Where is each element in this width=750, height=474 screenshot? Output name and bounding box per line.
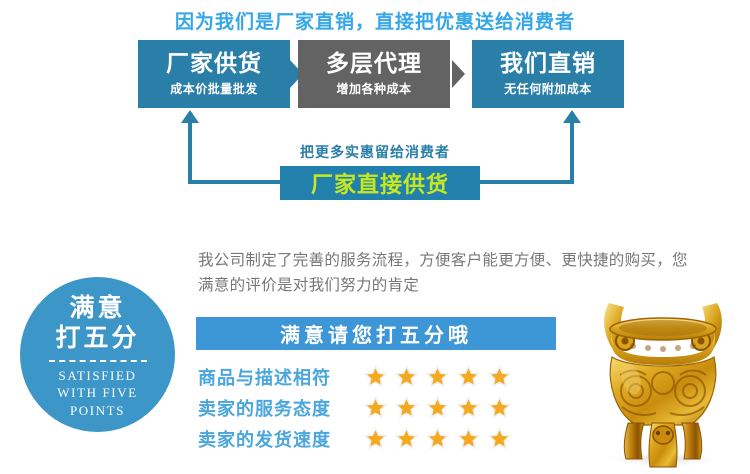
star-icon (426, 365, 449, 388)
rating-cta-label: 满意请您打五分哦 (280, 319, 472, 348)
flow-step-title: 多层代理 (326, 51, 422, 75)
golden-ding-vessel-image (576, 283, 750, 469)
rating-stars (364, 427, 511, 450)
star-icon (457, 396, 480, 419)
chevron-right-icon (452, 60, 465, 88)
direct-supply-banner: 厂家直接供货 (280, 166, 480, 200)
page-headline: 因为我们是厂家直销，直接把优惠送给消费者 (0, 7, 750, 34)
flow-step-title: 我们直销 (500, 51, 596, 75)
supply-chain-section: 因为我们是厂家直销，直接把优惠送给消费者 厂家供货 成本价批量批发 多层代理 增… (0, 0, 750, 215)
badge-en-line-2: WITH FIVE (57, 384, 137, 401)
badge-en-line-1: SATISFIED (59, 367, 137, 384)
star-icon (488, 427, 511, 450)
direct-supply-label: 厂家直接供货 (311, 167, 449, 199)
star-icon (364, 396, 387, 419)
star-icon (457, 427, 480, 450)
flow-step-subtitle: 增加各种成本 (336, 80, 411, 97)
rating-row: 卖家的发货速度 (198, 423, 568, 454)
badge-en-line-3: POINTS (70, 402, 125, 419)
star-icon (426, 396, 449, 419)
star-icon (364, 365, 387, 388)
star-icon (488, 396, 511, 419)
rating-label: 卖家的发货速度 (198, 426, 358, 452)
star-icon (395, 396, 418, 419)
flow-step-subtitle: 成本价批量批发 (170, 80, 258, 97)
rating-row: 卖家的服务态度 (198, 392, 568, 423)
rating-stars (364, 396, 511, 419)
star-icon (488, 365, 511, 388)
flow-step-multi-agent: 多层代理 增加各种成本 (298, 40, 450, 108)
flow-step-subtitle: 无任何附加成本 (504, 80, 592, 97)
star-icon (364, 427, 387, 450)
satisfaction-badge: 满意 打五分 SATISFIED WITH FIVE POINTS (20, 277, 175, 432)
star-icon (395, 365, 418, 388)
star-icon (395, 427, 418, 450)
flow-step-direct-sales: 我们直销 无任何附加成本 (472, 40, 624, 108)
rating-cta-banner: 满意请您打五分哦 (196, 317, 556, 350)
rating-label: 商品与描述相符 (198, 364, 358, 390)
flow-step-title: 厂家供货 (166, 51, 262, 75)
badge-cn-line-2: 打五分 (55, 324, 139, 354)
flow-step-manufacturer: 厂家供货 成本价批量批发 (138, 40, 290, 108)
rating-stars (364, 365, 511, 388)
rating-row: 商品与描述相符 (198, 361, 568, 392)
rating-list: 商品与描述相符 卖家的服务态度 卖家的发货速度 (198, 361, 568, 454)
star-icon (457, 365, 480, 388)
service-rating-section: 满意 打五分 SATISFIED WITH FIVE POINTS 我公司制定了… (0, 215, 750, 474)
rating-label: 卖家的服务态度 (198, 395, 358, 421)
star-icon (426, 427, 449, 450)
connector-caption: 把更多实惠留给消费者 (0, 142, 750, 162)
badge-dashed-divider (49, 360, 147, 362)
badge-cn-line-1: 满意 (69, 294, 125, 324)
